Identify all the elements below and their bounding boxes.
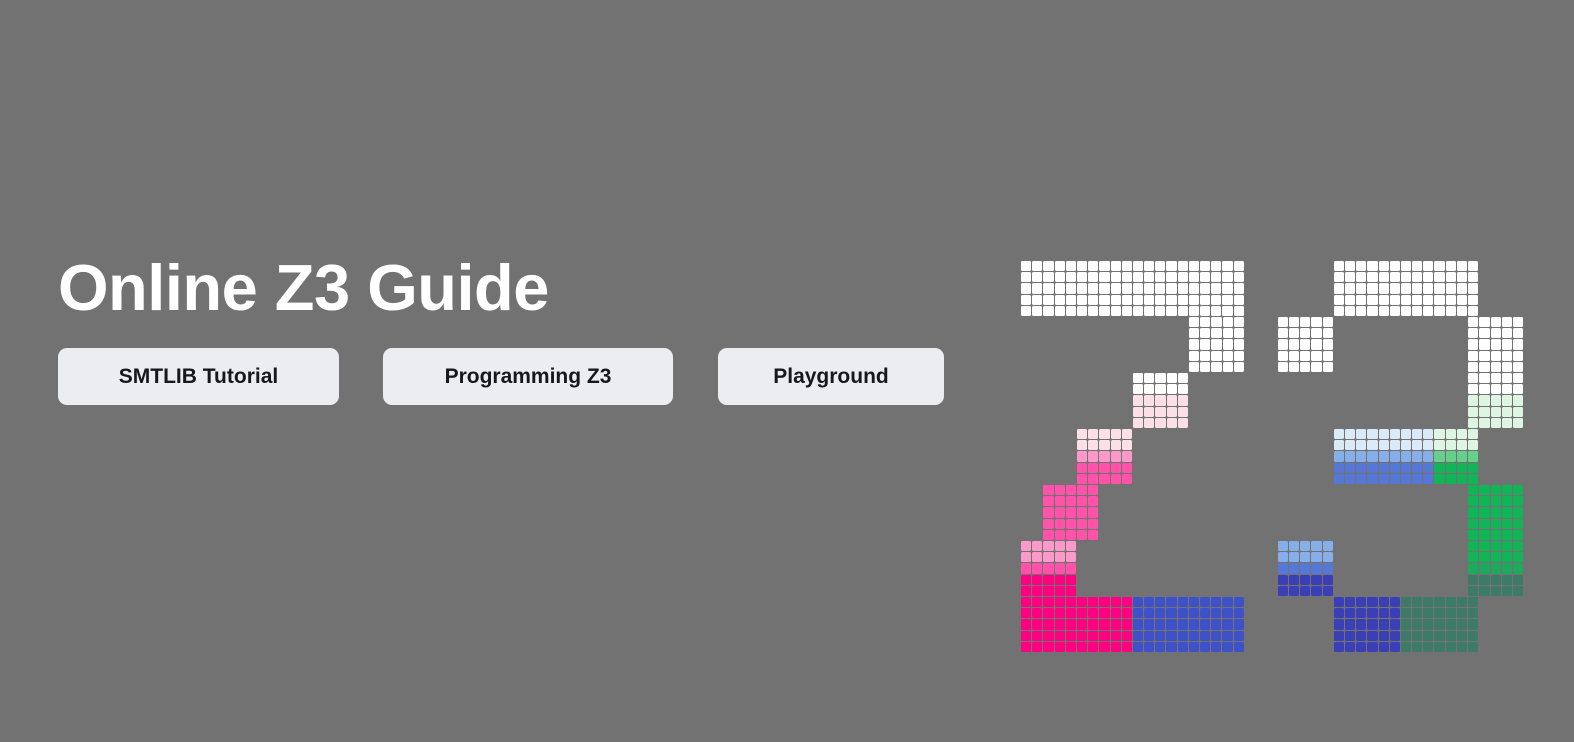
logo-pixel (1189, 362, 1199, 372)
programming-z3-button[interactable]: Programming Z3 (383, 348, 673, 405)
logo-pixel (1468, 373, 1478, 383)
logo-pixel (1133, 306, 1143, 316)
logo-pixel (1367, 451, 1377, 461)
logo-pixel (1434, 608, 1444, 618)
logo-pixel (1468, 575, 1478, 585)
logo-pixel-block (1077, 429, 1132, 484)
playground-button[interactable]: Playground (718, 348, 944, 405)
logo-pixel (1278, 339, 1288, 349)
logo-pixel (1178, 608, 1188, 618)
logo-pixel (1234, 328, 1244, 338)
logo-pixel (1222, 642, 1232, 652)
logo-pixel (1468, 530, 1478, 540)
logo-pixel (1412, 306, 1422, 316)
logo-pixel (1144, 283, 1154, 293)
logo-pixel (1334, 463, 1344, 473)
logo-pixel (1334, 261, 1344, 271)
logo-pixel (1300, 541, 1310, 551)
logo-pixel-block (1021, 261, 1244, 316)
logo-pixel (1323, 552, 1333, 562)
logo-pixel (1390, 597, 1400, 607)
z3-logo (1021, 261, 1521, 586)
logo-pixel (1367, 306, 1377, 316)
logo-pixel (1379, 619, 1389, 629)
logo-pixel (1390, 306, 1400, 316)
logo-pixel (1211, 597, 1221, 607)
logo-pixel (1211, 362, 1221, 372)
logo-pixel (1043, 619, 1053, 629)
logo-pixel (1066, 261, 1076, 271)
logo-pixel (1043, 552, 1053, 562)
logo-pixel (1055, 619, 1065, 629)
logo-pixel (1032, 306, 1042, 316)
logo-pixel (1043, 485, 1053, 495)
logo-pixel (1300, 339, 1310, 349)
logo-pixel (1434, 642, 1444, 652)
logo-pixel (1178, 407, 1188, 417)
logo-pixel (1423, 283, 1433, 293)
logo-pixel (1513, 317, 1523, 327)
logo-pixel (1189, 283, 1199, 293)
logo-pixel (1021, 586, 1031, 596)
logo-pixel (1379, 631, 1389, 641)
logo-pixel (1446, 463, 1456, 473)
logo-pixel (1468, 586, 1478, 596)
logo-pixel (1234, 295, 1244, 305)
logo-pixel (1345, 619, 1355, 629)
logo-pixel (1222, 272, 1232, 282)
logo-pixel (1468, 295, 1478, 305)
logo-pixel (1513, 328, 1523, 338)
smtlib-tutorial-button[interactable]: SMTLIB Tutorial (58, 348, 339, 405)
logo-pixel (1479, 552, 1489, 562)
logo-pixel-block (1043, 485, 1098, 540)
logo-pixel (1055, 485, 1065, 495)
logo-pixel (1189, 295, 1199, 305)
logo-pixel (1088, 519, 1098, 529)
logo-pixel (1367, 597, 1377, 607)
logo-pixel (1401, 631, 1411, 641)
logo-pixel (1502, 586, 1512, 596)
logo-pixel (1356, 597, 1366, 607)
logo-pixel (1401, 597, 1411, 607)
logo-pixel (1345, 440, 1355, 450)
logo-pixel (1133, 597, 1143, 607)
logo-pixel (1434, 295, 1444, 305)
logo-pixel (1099, 261, 1109, 271)
logo-pixel (1088, 306, 1098, 316)
logo-pixel (1457, 295, 1467, 305)
logo-pixel (1122, 619, 1132, 629)
logo-pixel (1289, 317, 1299, 327)
logo-pixel (1379, 597, 1389, 607)
logo-pixel (1066, 507, 1076, 517)
logo-pixel (1155, 619, 1165, 629)
logo-pixel (1379, 295, 1389, 305)
logo-pixel (1446, 429, 1456, 439)
logo-pixel (1367, 261, 1377, 271)
logo-pixel (1502, 418, 1512, 428)
logo-pixel (1356, 306, 1366, 316)
logo-pixel (1122, 631, 1132, 641)
logo-pixel (1491, 541, 1501, 551)
logo-pixel (1434, 283, 1444, 293)
logo-pixel (1223, 362, 1233, 372)
logo-pixel (1021, 541, 1031, 551)
logo-pixel (1345, 261, 1355, 271)
logo-pixel (1468, 395, 1478, 405)
logo-pixel (1189, 306, 1199, 316)
logo-pixel (1446, 597, 1456, 607)
logo-pixel (1401, 642, 1411, 652)
logo-pixel (1077, 642, 1087, 652)
logo-pixel (1446, 261, 1456, 271)
logo-pixel (1502, 563, 1512, 573)
logo-pixel (1032, 597, 1042, 607)
logo-pixel (1468, 496, 1478, 506)
logo-pixel (1055, 608, 1065, 618)
logo-pixel (1390, 429, 1400, 439)
logo-pixel (1356, 619, 1366, 629)
logo-pixel (1311, 339, 1321, 349)
logo-pixel (1423, 631, 1433, 641)
logo-pixel (1457, 474, 1467, 484)
logo-pixel (1066, 642, 1076, 652)
logo-pixel (1423, 463, 1433, 473)
logo-pixel (1055, 283, 1065, 293)
logo-pixel (1066, 306, 1076, 316)
logo-pixel (1479, 407, 1489, 417)
logo-pixel (1166, 619, 1176, 629)
logo-pixel (1513, 373, 1523, 383)
logo-pixel (1066, 295, 1076, 305)
logo-pixel (1345, 463, 1355, 473)
logo-pixel (1412, 463, 1422, 473)
logo-pixel (1311, 351, 1321, 361)
logo-pixel (1133, 384, 1143, 394)
logo-pixel (1300, 552, 1310, 562)
logo-pixel (1200, 339, 1210, 349)
logo-pixel (1043, 306, 1053, 316)
logo-pixel (1077, 608, 1087, 618)
logo-pixel (1457, 306, 1467, 316)
logo-pixel (1311, 575, 1321, 585)
logo-pixel (1401, 283, 1411, 293)
logo-pixel (1088, 295, 1098, 305)
logo-pixel (1468, 552, 1478, 562)
logo-pixel (1032, 642, 1042, 652)
logo-pixel (1300, 362, 1310, 372)
logo-pixel (1289, 351, 1299, 361)
logo-pixel (1423, 642, 1433, 652)
logo-pixel (1055, 306, 1065, 316)
logo-pixel (1300, 317, 1310, 327)
logo-pixel (1311, 328, 1321, 338)
logo-pixel (1122, 474, 1132, 484)
logo-pixel (1379, 283, 1389, 293)
logo-pixel (1457, 597, 1467, 607)
logo-pixel (1367, 608, 1377, 618)
logo-pixel (1122, 642, 1132, 652)
logo-pixel (1111, 272, 1121, 282)
logo-pixel (1513, 418, 1523, 428)
logo-pixel (1111, 474, 1121, 484)
logo-pixel (1189, 619, 1199, 629)
logo-pixel (1111, 283, 1121, 293)
logo-pixel (1200, 328, 1210, 338)
logo-pixel (1334, 631, 1344, 641)
logo-pixel (1133, 295, 1143, 305)
logo-pixel (1144, 295, 1154, 305)
logo-pixel (1043, 631, 1053, 641)
logo-pixel (1234, 619, 1244, 629)
logo-pixel-block (1468, 317, 1523, 428)
logo-pixel (1155, 261, 1165, 271)
logo-pixel (1077, 519, 1087, 529)
logo-pixel (1088, 631, 1098, 641)
logo-pixel (1088, 597, 1098, 607)
logo-pixel (1111, 440, 1121, 450)
logo-pixel (1043, 272, 1053, 282)
logo-pixel (1468, 619, 1478, 629)
logo-pixel (1167, 373, 1177, 383)
logo-pixel (1468, 261, 1478, 271)
logo-pixel (1021, 283, 1031, 293)
logo-pixel (1088, 272, 1098, 282)
logo-pixel (1513, 530, 1523, 540)
logo-pixel (1390, 608, 1400, 618)
logo-pixel (1334, 283, 1344, 293)
logo-pixel (1502, 351, 1512, 361)
logo-pixel (1223, 328, 1233, 338)
logo-pixel (1367, 283, 1377, 293)
logo-pixel (1446, 642, 1456, 652)
logo-pixel (1077, 474, 1087, 484)
logo-pixel (1491, 407, 1501, 417)
logo-pixel (1513, 485, 1523, 495)
logo-pixel (1379, 429, 1389, 439)
logo-pixel (1088, 496, 1098, 506)
logo-pixel (1367, 642, 1377, 652)
logo-pixel (1401, 429, 1411, 439)
logo-pixel (1077, 530, 1087, 540)
logo-pixel (1446, 295, 1456, 305)
logo-pixel (1223, 351, 1233, 361)
logo-pixel-block (1334, 261, 1478, 316)
logo-pixel (1021, 597, 1031, 607)
logo-pixel (1401, 440, 1411, 450)
logo-pixel (1502, 339, 1512, 349)
logo-pixel (1133, 272, 1143, 282)
logo-pixel (1066, 586, 1076, 596)
logo-pixel (1446, 440, 1456, 450)
logo-pixel (1200, 597, 1210, 607)
logo-pixel (1066, 608, 1076, 618)
logo-pixel (1468, 328, 1478, 338)
logo-pixel (1066, 619, 1076, 629)
logo-pixel (1200, 283, 1210, 293)
logo-pixel (1491, 485, 1501, 495)
logo-pixel (1300, 563, 1310, 573)
logo-pixel (1300, 351, 1310, 361)
logo-pixel (1111, 295, 1121, 305)
logo-pixel (1032, 575, 1042, 585)
logo-pixel (1379, 463, 1389, 473)
logo-pixel (1077, 463, 1087, 473)
logo-pixel (1066, 485, 1076, 495)
logo-pixel (1021, 261, 1031, 271)
logo-pixel (1502, 328, 1512, 338)
logo-pixel (1457, 429, 1467, 439)
logo-pixel (1066, 530, 1076, 540)
logo-pixel (1412, 619, 1422, 629)
logo-pixel (1088, 642, 1098, 652)
logo-pixel (1077, 485, 1087, 495)
logo-pixel (1468, 339, 1478, 349)
logo-pixel (1300, 575, 1310, 585)
logo-pixel (1144, 642, 1154, 652)
logo-pixel (1334, 474, 1344, 484)
logo-pixel (1200, 272, 1210, 282)
logo-pixel (1155, 306, 1165, 316)
logo-pixel (1457, 440, 1467, 450)
logo-pixel (1066, 552, 1076, 562)
logo-pixel (1032, 608, 1042, 618)
logo-pixel (1234, 631, 1244, 641)
logo-pixel (1211, 328, 1221, 338)
logo-pixel (1502, 496, 1512, 506)
logo-pixel (1032, 295, 1042, 305)
logo-pixel (1178, 597, 1188, 607)
logo-pixel (1356, 642, 1366, 652)
logo-pixel (1434, 619, 1444, 629)
logo-pixel (1111, 261, 1121, 271)
logo-pixel (1401, 451, 1411, 461)
logo-pixel (1446, 451, 1456, 461)
logo-pixel (1468, 474, 1478, 484)
logo-pixel (1323, 317, 1333, 327)
logo-pixel (1502, 373, 1512, 383)
logo-pixel (1513, 407, 1523, 417)
logo-pixel (1099, 642, 1109, 652)
logo-pixel (1289, 541, 1299, 551)
logo-pixel (1043, 496, 1053, 506)
logo-pixel (1423, 306, 1433, 316)
logo-pixel (1491, 384, 1501, 394)
logo-pixel (1055, 261, 1065, 271)
logo-pixel (1390, 642, 1400, 652)
logo-pixel (1278, 362, 1288, 372)
logo-pixel (1167, 384, 1177, 394)
logo-pixel (1423, 451, 1433, 461)
logo-pixel (1043, 575, 1053, 585)
logo-pixel (1066, 575, 1076, 585)
logo-pixel (1099, 608, 1109, 618)
logo-pixel (1345, 306, 1355, 316)
logo-pixel (1367, 463, 1377, 473)
logo-pixel (1111, 429, 1121, 439)
logo-pixel (1468, 541, 1478, 551)
logo-pixel (1021, 272, 1031, 282)
logo-pixel-block (1278, 317, 1333, 372)
logo-pixel (1088, 283, 1098, 293)
logo-pixel (1133, 395, 1143, 405)
logo-pixel (1099, 306, 1109, 316)
logo-pixel (1401, 608, 1411, 618)
logo-pixel (1066, 541, 1076, 551)
logo-pixel (1468, 563, 1478, 573)
logo-pixel (1178, 631, 1188, 641)
logo-pixel (1066, 519, 1076, 529)
logo-pixel (1434, 272, 1444, 282)
logo-pixel (1043, 283, 1053, 293)
logo-pixel (1434, 261, 1444, 271)
logo-pixel (1289, 339, 1299, 349)
logo-pixel (1166, 608, 1176, 618)
logo-pixel (1491, 373, 1501, 383)
logo-pixel (1479, 351, 1489, 361)
logo-pixel (1446, 283, 1456, 293)
logo-pixel (1323, 328, 1333, 338)
logo-pixel (1099, 619, 1109, 629)
logo-pixel (1077, 306, 1087, 316)
logo-pixel (1479, 395, 1489, 405)
logo-pixel (1200, 631, 1210, 641)
logo-pixel (1502, 485, 1512, 495)
logo-pixel (1088, 451, 1098, 461)
logo-pixel (1077, 272, 1087, 282)
logo-pixel (1178, 642, 1188, 652)
logo-pixel (1334, 608, 1344, 618)
logo-pixel (1423, 474, 1433, 484)
logo-pixel (1155, 597, 1165, 607)
logo-pixel (1356, 463, 1366, 473)
logo-pixel (1144, 261, 1154, 271)
logo-pixel (1122, 295, 1132, 305)
logo-pixel (1200, 608, 1210, 618)
logo-pixel (1222, 306, 1232, 316)
logo-pixel (1099, 440, 1109, 450)
logo-pixel (1032, 541, 1042, 551)
logo-pixel (1491, 519, 1501, 529)
logo-pixel (1356, 631, 1366, 641)
logo-pixel (1468, 451, 1478, 461)
logo-pixel (1211, 283, 1221, 293)
logo-pixel (1345, 429, 1355, 439)
logo-pixel (1133, 619, 1143, 629)
logo-pixel (1323, 351, 1333, 361)
logo-pixel (1111, 642, 1121, 652)
logo-pixel (1479, 541, 1489, 551)
logo-pixel (1356, 295, 1366, 305)
logo-pixel (1189, 642, 1199, 652)
logo-pixel (1457, 619, 1467, 629)
logo-pixel (1457, 642, 1467, 652)
logo-pixel (1479, 485, 1489, 495)
logo-pixel (1133, 631, 1143, 641)
logo-pixel (1077, 631, 1087, 641)
page-title: Online Z3 Guide (58, 255, 978, 320)
logo-pixel (1513, 339, 1523, 349)
logo-pixel (1401, 272, 1411, 282)
logo-pixel (1468, 283, 1478, 293)
logo-pixel (1077, 440, 1087, 450)
logo-pixel (1043, 530, 1053, 540)
logo-pixel (1423, 619, 1433, 629)
logo-pixel (1043, 507, 1053, 517)
logo-pixel (1479, 339, 1489, 349)
logo-pixel (1502, 541, 1512, 551)
